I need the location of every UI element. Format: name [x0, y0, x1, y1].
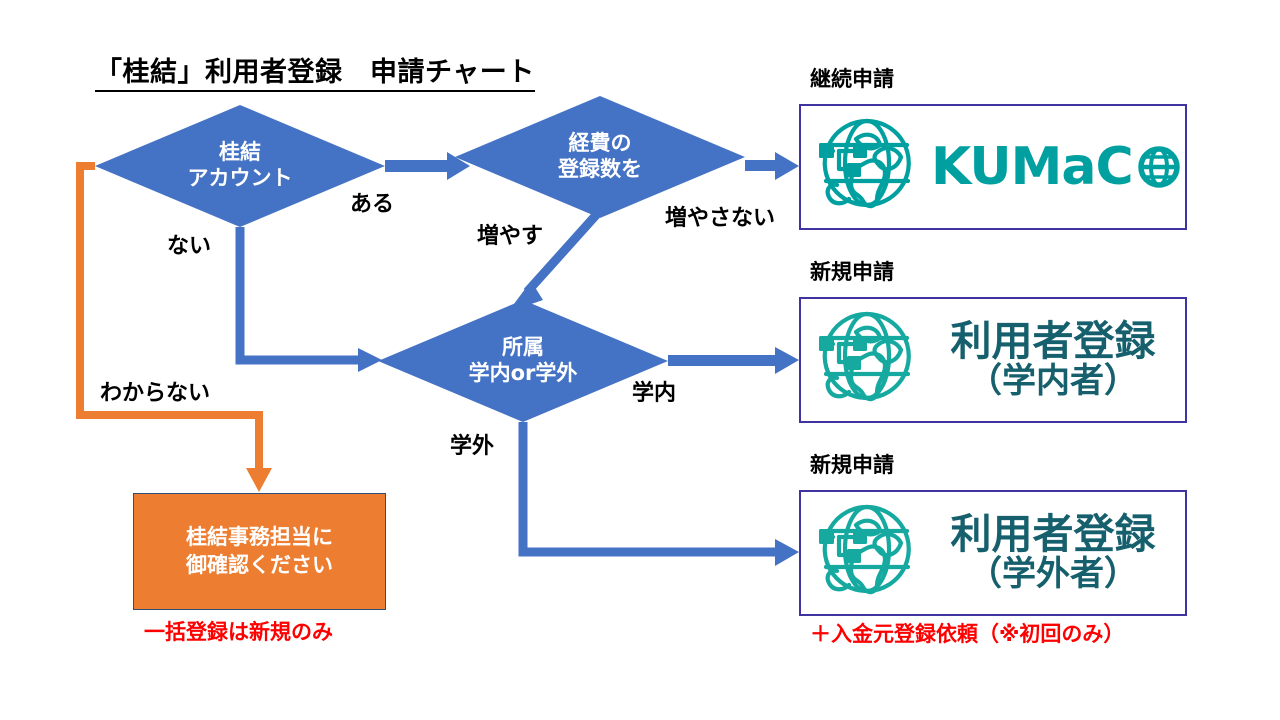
edge-account-to-affiliation	[240, 227, 382, 372]
globe-network-icon	[809, 497, 931, 609]
decision-account[interactable]: 桂結 アカウント	[95, 105, 385, 227]
decision-account-line2: アカウント	[188, 166, 293, 192]
process-box-office[interactable]: 桂結事務担当に 御確認ください	[133, 493, 386, 610]
globe-network-icon	[809, 111, 931, 223]
kumaco-wordmark-area: KUMaC	[931, 141, 1187, 193]
inside-user-text-area: 利用者登録 （学内者）	[931, 320, 1185, 400]
card-caption-kumaco: 継続申請	[810, 63, 894, 93]
edge-label-fuyasu: 増やす	[477, 218, 543, 250]
note-bulk-registration: 一括登録は新規のみ	[144, 616, 333, 646]
decision-expense-line2: 登録数を	[558, 157, 642, 183]
card-caption-inside: 新規申請	[810, 256, 894, 286]
inside-user-main-label: 利用者登録	[951, 320, 1156, 363]
edge-label-wakaranai: わからない	[100, 375, 210, 407]
edge-label-nai: ない	[167, 228, 211, 260]
outside-user-sub-label: （学外者）	[968, 556, 1138, 593]
edge-label-aru: ある	[350, 186, 394, 218]
card-caption-outside: 新規申請	[810, 449, 894, 479]
result-card-kumaco[interactable]: KUMaC	[799, 104, 1187, 230]
edge-label-fuyasanai: 増やさない	[665, 200, 775, 232]
decision-account-line1: 桂結	[188, 140, 293, 166]
result-card-outside-user[interactable]: 利用者登録 （学外者）	[799, 490, 1187, 616]
edge-label-gakugai: 学外	[450, 428, 494, 460]
result-card-inside-user[interactable]: 利用者登録 （学内者）	[799, 297, 1187, 423]
decision-affiliation-line1: 所属	[469, 335, 578, 361]
flowchart-canvas: expense : thin-bodied arrow --> affiliat…	[0, 0, 1280, 720]
inside-user-sub-label: （学内者）	[968, 363, 1138, 400]
kumaco-wordmark-text: KUMaC	[931, 141, 1133, 193]
process-box-office-line2: 御確認ください	[186, 552, 333, 579]
edge-affiliation-to-inside	[668, 347, 799, 374]
decision-affiliation-line2: 学内or学外	[469, 361, 578, 387]
page-title: 「桂結」利用者登録 申請チャート	[95, 58, 535, 92]
edge-label-gakunai: 学内	[632, 375, 676, 407]
edge-expense-to-kumaco	[745, 152, 799, 180]
decision-expense-line1: 経費の	[558, 131, 642, 157]
process-box-office-line1: 桂結事務担当に	[186, 524, 333, 551]
decision-affiliation[interactable]: 所属 学内or学外	[378, 300, 668, 422]
note-payer-registration: ＋入金元登録依頼（※初回のみ）	[810, 618, 1124, 648]
globe-o-icon	[1137, 145, 1181, 189]
edge-affiliation-to-outside	[523, 422, 799, 566]
outside-user-main-label: 利用者登録	[951, 513, 1156, 556]
globe-network-icon	[809, 304, 931, 416]
outside-user-text-area: 利用者登録 （学外者）	[931, 513, 1185, 593]
